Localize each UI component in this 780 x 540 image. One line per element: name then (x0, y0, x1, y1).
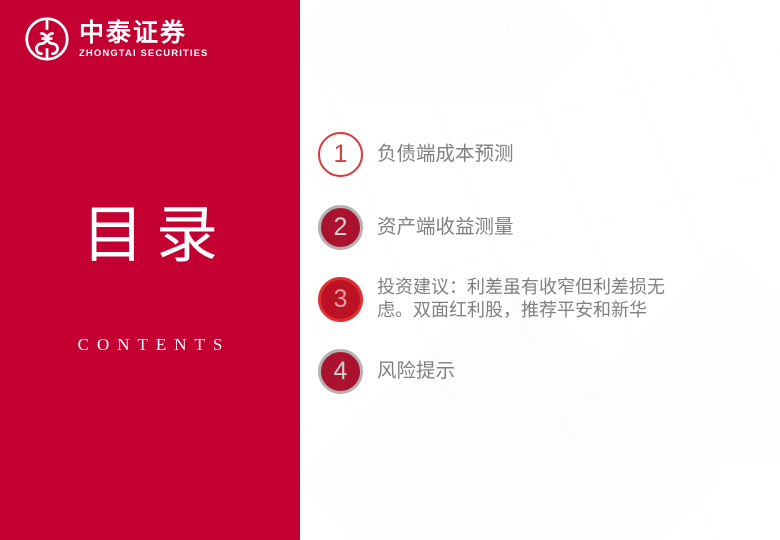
item-number-badge: 4 (318, 349, 363, 394)
brand-name-en: ZHONGTAI SECURITIES (79, 49, 208, 59)
list-item[interactable]: 4 风险提示 (318, 349, 764, 394)
list-item-label: 资产端收益测量 (377, 215, 514, 240)
list-item[interactable]: 3 投资建议：利差虽有收窄但利差损无 虑。双面红利股，推荐平安和新华 (318, 276, 764, 323)
item-number-badge: 1 (318, 132, 363, 177)
page-subtitle: CONTENTS (0, 335, 300, 355)
brand-logo: 中泰证券 ZHONGTAI SECURITIES (24, 16, 208, 62)
brand-name-cn: 中泰证券 (79, 20, 208, 46)
list-item-label: 负债端成本预测 (377, 142, 514, 167)
item-number-badge: 3 (318, 277, 363, 322)
list-item-label: 风险提示 (377, 359, 455, 384)
left-red-panel: 中泰证券 ZHONGTAI SECURITIES 目录 CONTENTS (0, 0, 300, 540)
page-title: 目录 (0, 205, 300, 267)
contents-list: 1 负债端成本预测 2 资产端收益测量 3 投资建议：利差虽有收窄但利差损无 虑… (318, 132, 764, 394)
brand-text-block: 中泰证券 ZHONGTAI SECURITIES (79, 20, 208, 59)
zhongtai-circle-logo-icon (24, 16, 70, 62)
list-item-label: 投资建议：利差虽有收窄但利差损无 虑。双面红利股，推荐平安和新华 (377, 276, 665, 323)
item-number-badge: 2 (318, 205, 363, 250)
list-item[interactable]: 2 资产端收益测量 (318, 205, 764, 250)
slide-root: 中泰证券 ZHONGTAI SECURITIES 目录 CONTENTS 1 负… (0, 0, 780, 540)
list-item[interactable]: 1 负债端成本预测 (318, 132, 764, 177)
